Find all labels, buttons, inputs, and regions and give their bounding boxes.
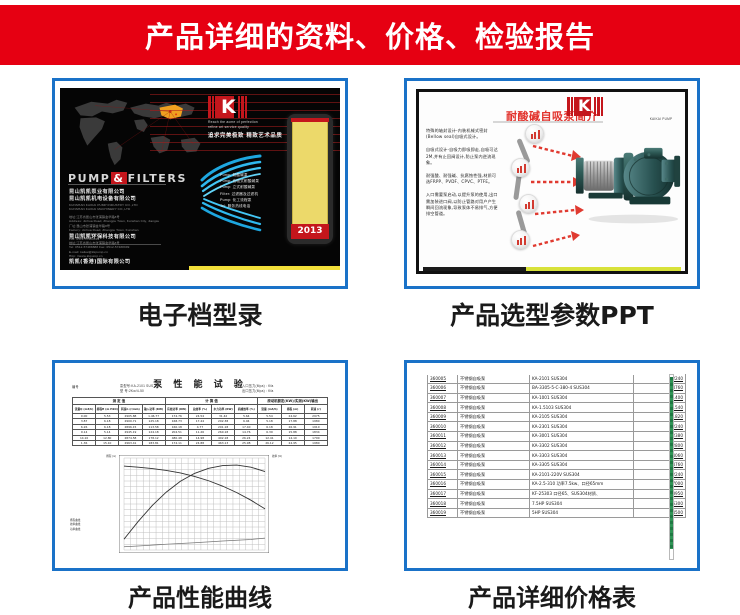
- cell-name: 不锈钢自吸泵: [458, 432, 530, 442]
- caption-curve: 产品性能曲线: [52, 578, 348, 613]
- price-frame: 360005不锈钢自吸泵KA-2101 SUS3042240360006不锈钢自…: [404, 360, 700, 571]
- cell-price: 1820: [634, 412, 686, 422]
- cell-code: 360012: [428, 441, 458, 451]
- col-header: 扬程 (m): [281, 405, 304, 414]
- price-spreadsheet: 360005不锈钢自吸泵KA-2101 SUS3042240360006不锈钢自…: [414, 370, 690, 561]
- cell-model: KA-2101 SUS304: [530, 374, 634, 384]
- catalog-booklet-graphic: 2013: [287, 114, 333, 244]
- wordmark-rule: [68, 184, 166, 185]
- sheet-meta-center: 泵型号:KA-2101 SUS 304 型 号:2Kw/4-50: [120, 384, 160, 394]
- col-header: 机械效率 (%): [235, 405, 258, 414]
- cell-code: 360017: [428, 489, 458, 499]
- contact-line: Http: //www.kkpump.cn: [69, 254, 136, 258]
- pump-product-photo: [571, 138, 683, 226]
- cell-name: 不锈钢自吸泵: [458, 480, 530, 490]
- cell-code: 360009: [428, 412, 458, 422]
- cell-price: 2800: [634, 441, 686, 451]
- company-name-cn: 昆山凯凯环保科技有限公司: [69, 234, 136, 241]
- logo-letter: K: [221, 97, 236, 117]
- cell-code: 360013: [428, 451, 458, 461]
- ppt-paragraph: 特殊的轴封设计-内装机械式密封(Bellow seal)自吸式设计。: [426, 128, 498, 140]
- cell-price: 3950: [634, 489, 686, 499]
- cell-model: KA-1.5103 SUS304: [530, 403, 634, 413]
- cell-name: 不锈钢自吸泵: [458, 412, 530, 422]
- cell-name: 不锈钢自吸泵: [458, 508, 530, 518]
- page-title: 产品详细的资料、价格、检验报告: [145, 14, 595, 56]
- meta-line: 型 号:2Kw/4-50: [120, 389, 160, 394]
- booklet-page: [292, 119, 328, 239]
- cell-model: 7.5HP SUS304: [530, 499, 634, 509]
- cell-model: KA-1001 SUS304: [530, 393, 634, 403]
- catalog-image: K Reach the acme of perfection refine ar…: [60, 86, 340, 281]
- cell-price: 7000: [634, 480, 686, 490]
- cell-model: KF-25303 口径65、SUS304材质、: [530, 489, 634, 499]
- caption-ppt: 产品选型参数PPT: [404, 296, 700, 332]
- vertical-scrollbar[interactable]: [669, 374, 674, 560]
- ppt-image: 耐酸碱自吸泵简介 K: [412, 86, 692, 281]
- cell-price: 1400: [634, 393, 686, 403]
- pump-test-sheet: 泵 性 能 试 验 编号 泵型号:KA-2101 SUS 304 型 号:2Kw…: [64, 371, 336, 560]
- curve-image: 泵 性 能 试 验 编号 泵型号:KA-2101 SUS 304 型 号:2Kw…: [60, 368, 340, 563]
- cell-price: 1540: [634, 403, 686, 413]
- ppt-slide: 耐酸碱自吸泵简介 K: [416, 89, 688, 274]
- cell-name: 不锈钢自吸泵: [458, 441, 530, 451]
- performance-chart: [119, 455, 269, 553]
- cell-model: KA-3303 SUS304: [530, 451, 634, 461]
- cell-name: 不锈钢自吸泵: [458, 374, 530, 384]
- cell-name: 不锈钢自吸泵: [458, 499, 530, 509]
- table-row[interactable]: 360007不锈钢自吸泵KA-1001 SUS3041400: [428, 393, 686, 403]
- ppt-text-blocks: 特殊的轴封设计-内装机械式密封(Bellow seal)自吸式设计。 自吸式设计…: [426, 128, 498, 224]
- brand-logo-k: K: [567, 97, 605, 116]
- cell-code: 360006: [428, 384, 458, 394]
- cell-price: 4500: [634, 508, 686, 518]
- spec-item: Pump: 立式耐酸碱泵: [220, 184, 259, 190]
- chart-legend: 扬程曲线 效率曲线 功率曲线: [70, 519, 80, 532]
- sheet-title: 泵 性 能 试 验: [64, 377, 336, 390]
- logo-letter: K: [578, 97, 590, 115]
- ppt-frame: 耐酸碱自吸泵简介 K: [404, 78, 700, 289]
- col-header: 流量Q (m3/h): [73, 405, 96, 414]
- caption-price: 产品详细价格表: [404, 578, 700, 613]
- table-row[interactable]: 360011不锈钢自吸泵KA-3001 SUS3042380: [428, 432, 686, 442]
- col-header: 流量 (m3/h): [258, 405, 281, 414]
- brand-logo-k: K: [208, 96, 250, 118]
- cell-model: KA-3302 SUS304: [530, 441, 634, 451]
- card-curve[interactable]: 泵 性 能 试 验 编号 泵型号:KA-2101 SUS 304 型 号:2Kw…: [52, 360, 348, 613]
- sheet-meta-right: 入口压力(Mpa) : Kfa 出口压力(Mpa) : Kfa: [242, 384, 274, 394]
- cell-price: 6300: [634, 499, 686, 509]
- cell-name: 不锈钢自吸泵: [458, 403, 530, 413]
- col-header: 水力功率 (KW): [212, 405, 235, 414]
- cell-price: 2240: [634, 422, 686, 432]
- cell-model: KA-2105 SUS304: [530, 412, 634, 422]
- company-name-cn-1: 昆山凯凯泵业有限公司: [69, 189, 161, 196]
- ppt-paragraph: 自吸式设计-自吸力即吸即走,自吸可达2M,并有止回阀设计,防止泵内逆流现象。: [426, 147, 498, 166]
- card-price[interactable]: 360005不锈钢自吸泵KA-2101 SUS3042240360006不锈钢自…: [404, 360, 700, 613]
- group-header: 原动机额定(KW)/实测(KW)输出: [258, 398, 328, 405]
- table-row[interactable]: 360015不锈钢自吸泵KA-2101-220V SUS3042240: [428, 470, 686, 480]
- cell-model: 5HP SUS304: [530, 508, 634, 518]
- table-row[interactable]: 360017不锈钢自吸泵KF-25303 口径65、SUS304材质、3950: [428, 489, 686, 499]
- table-row[interactable]: 360008不锈钢自吸泵KA-1.5103 SUS3041540: [428, 403, 686, 413]
- cell-name: 不锈钢自吸泵: [458, 422, 530, 432]
- table-row[interactable]: 360013不锈钢自吸泵KA-3303 SUS3044060: [428, 451, 686, 461]
- catalog-bottom-bar: [60, 266, 340, 270]
- table-row[interactable]: 360006不锈钢自吸泵BA-3305-5-C-380-4 SUS3044760: [428, 384, 686, 394]
- table-row[interactable]: 360005不锈钢自吸泵KA-2101 SUS3042240: [428, 374, 686, 384]
- logo-subtext: KAIKAI PUMP: [642, 117, 680, 121]
- cell-code: 360005: [428, 374, 458, 384]
- cell-code: 360014: [428, 460, 458, 470]
- legend-item: 功率曲线: [70, 528, 80, 532]
- booklet-top-bar: [291, 118, 329, 122]
- card-catalog[interactable]: K Reach the acme of perfection refine ar…: [52, 78, 348, 332]
- cell-code: 360010: [428, 422, 458, 432]
- col-header: 扬程H (m H2O): [96, 405, 119, 414]
- cell-code: 360011: [428, 432, 458, 442]
- cards-grid: K Reach the acme of perfection refine ar…: [0, 78, 740, 615]
- booklet-year: 2013: [291, 224, 329, 239]
- table-row: 14.1012.802874.58178.12480.4814.98402.18…: [73, 435, 328, 440]
- cell-price: 2240: [634, 374, 686, 384]
- table-group-header-row: 测 定 值 计 算 值 原动机额定(KW)/实测(KW)输出: [73, 398, 328, 405]
- meta-line: 出口压力(Mpa) : Kfa: [242, 389, 274, 394]
- col-header: 有效功率 (KW): [165, 405, 188, 414]
- logo-tagline-cn: 追求完美极致 精致艺术品质: [208, 131, 282, 139]
- bar-chart-icon: [511, 158, 530, 177]
- table-row[interactable]: 360010不锈钢自吸泵KA-2301 SUS3042240: [428, 422, 686, 432]
- ppt-paragraph: 耐强酸、耐强碱、抗腐蚀性强,材质可选FRPP、PVDF、CPVC、PTFE。: [426, 173, 498, 185]
- cell-model: KA-2301 SUS304: [530, 422, 634, 432]
- cell-price: 4760: [634, 384, 686, 394]
- cell-code: 360008: [428, 403, 458, 413]
- group-header: 计 算 值: [165, 398, 258, 405]
- catalog-cover: K Reach the acme of perfection refine ar…: [60, 88, 340, 270]
- cell-model: KA-3001 SUS304: [530, 432, 634, 442]
- contact-line: Address: Jinhua Road, Zhangpu Town, Kuns…: [69, 219, 161, 223]
- cell-name: 不锈钢自吸泵: [458, 489, 530, 499]
- chart-axis-left: 扬程 (m): [100, 455, 116, 553]
- cell-name: 不锈钢自吸泵: [458, 384, 530, 394]
- cell-code: 360019: [428, 508, 458, 518]
- company-name-cn: 凯凯(香港)国际有限公司: [69, 259, 133, 266]
- cell-model: KA-3305 SUS304: [530, 460, 634, 470]
- axis-title-right: 效率 (%): [272, 455, 290, 459]
- contact-block-2: 昆山凯凯环保科技有限公司 地址:江苏省昆山市张浦镇金华路8号 Tel: 0512…: [69, 234, 136, 259]
- cell-name: 不锈钢自吸泵: [458, 393, 530, 403]
- table-row[interactable]: 360012不锈钢自吸泵KA-3302 SUS3042800: [428, 441, 686, 451]
- scrollbar-thumb[interactable]: [670, 377, 673, 549]
- header-banner: 产品详细的资料、价格、检验报告: [0, 5, 740, 65]
- card-ppt[interactable]: 耐酸碱自吸泵简介 K: [404, 78, 700, 332]
- product-detail-page: 产品详细的资料、价格、检验报告: [0, 0, 740, 615]
- table-row: 1.3615.102963.41183.81174.1124.88463.132…: [73, 441, 328, 446]
- col-header: 总效率 (%): [188, 405, 211, 414]
- cell-code: 360018: [428, 499, 458, 509]
- ppt-bottom-bar: [423, 267, 681, 271]
- cell-model: BA-3305-5-C-380-4 SUS304: [530, 384, 634, 394]
- cell-name: 不锈钢自吸泵: [458, 470, 530, 480]
- cell-price: 4760: [634, 460, 686, 470]
- cell-model: KA-2101-220V SUS304: [530, 470, 634, 480]
- company-name-cn-2: 昆山凯凯机电设备有限公司: [69, 196, 161, 203]
- caption-catalog: 电子档型录: [52, 296, 348, 332]
- table-row[interactable]: 360018不锈钢自吸泵7.5HP SUS3046300: [428, 499, 686, 509]
- curve-frame: 泵 性 能 试 验 编号 泵型号:KA-2101 SUS 304 型 号:2Kw…: [52, 360, 348, 571]
- col-header: 输入功率 (KW): [142, 405, 165, 414]
- cell-name: 不锈钢自吸泵: [458, 460, 530, 470]
- cell-price: 2380: [634, 432, 686, 442]
- cell-model: KA-2.5-310 功率7.5kw、口径65mm: [530, 480, 634, 490]
- cell-price: 2240: [634, 470, 686, 480]
- cell-code: 360007: [428, 393, 458, 403]
- test-data-table: 测 定 值 计 算 值 原动机额定(KW)/实测(KW)输出 流量Q (m3/h…: [72, 397, 328, 446]
- spec-item: Filter: 过滤器及过滤机: [220, 191, 259, 197]
- table-sub-header-row: 流量Q (m3/h) 扬程H (m H2O) 转速n (r/min) 输入功率 …: [73, 405, 328, 414]
- table-row[interactable]: 360019不锈钢自吸泵5HP SUS3044500: [428, 508, 686, 518]
- price-image: 360005不锈钢自吸泵KA-2101 SUS3042240360006不锈钢自…: [412, 368, 692, 563]
- table-row[interactable]: 360009不锈钢自吸泵KA-2105 SUS3041820: [428, 412, 686, 422]
- chart-axis-right: 效率 (%): [272, 455, 290, 553]
- cell-price: 4060: [634, 451, 686, 461]
- product-spec-list: Pump: 耐酸碱泵 Pump: 自吸式耐酸碱泵 Pump: 立式耐酸碱泵 Fi…: [220, 172, 259, 209]
- ppt-paragraph: 入口需要泵启动,以提升泵的使用,出口需加装进口阀,以防止管路对用户产生瞬间回流现…: [426, 192, 498, 217]
- axis-title-left: 扬程 (m): [100, 455, 116, 459]
- col-header: 转速 (r): [304, 405, 327, 414]
- cell-code: 360015: [428, 470, 458, 480]
- cell-code: 360016: [428, 480, 458, 490]
- spec-item: Tel: 服务热线电话: [220, 203, 259, 209]
- cell-name: 不锈钢自吸泵: [458, 451, 530, 461]
- catalog-frame: K Reach the acme of perfection refine ar…: [52, 78, 348, 289]
- col-header: 转速n (r/min): [119, 405, 142, 414]
- table-row[interactable]: 360014不锈钢自吸泵KA-3305 SUS3044760: [428, 460, 686, 470]
- group-header: 测 定 值: [73, 398, 166, 405]
- table-row[interactable]: 360016不锈钢自吸泵KA-2.5-310 功率7.5kw、口径65mm700…: [428, 480, 686, 490]
- logo-tagline-line2: refine art service quality: [208, 125, 288, 130]
- sheet-top-edge: [427, 370, 685, 375]
- logo-tagline: Reach the acme of perfection refine art …: [208, 120, 288, 130]
- sheet-meta-left: 编号: [72, 385, 79, 390]
- price-table[interactable]: 360005不锈钢自吸泵KA-2101 SUS3042240360006不锈钢自…: [427, 374, 686, 518]
- bar-chart-icon: [511, 230, 530, 249]
